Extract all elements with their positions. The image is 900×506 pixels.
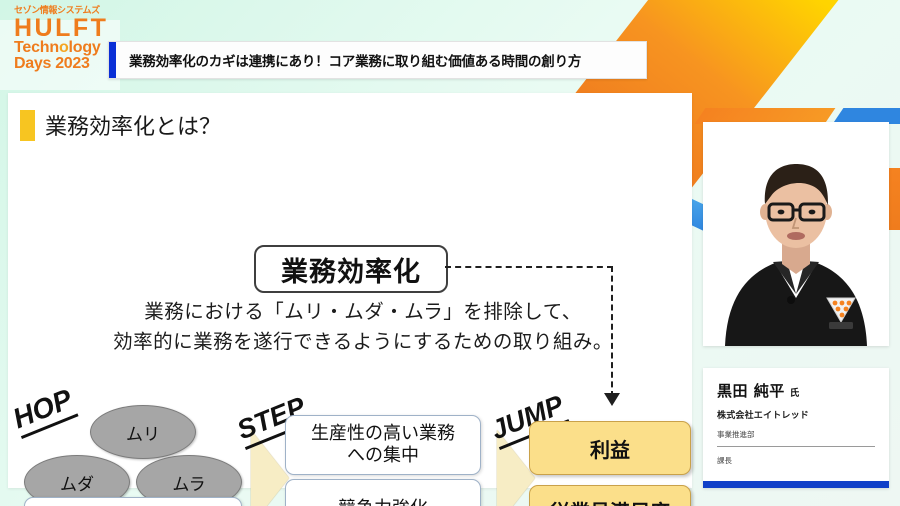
heading-marker — [20, 110, 35, 141]
speaker-card-bottom-bar — [703, 481, 889, 488]
step-focus-line-2: への集中 — [311, 445, 455, 468]
slide-heading-text: 業務効率化とは？ — [45, 109, 221, 141]
stage-label-hop: HOP — [9, 383, 79, 439]
step-box-competitiveness: 競争力強化 — [285, 479, 481, 506]
body-line-2: 効率的に業務を遂行できるようにするための取り組み。 — [98, 327, 628, 357]
logo-days-2023: Days 2023 — [14, 56, 114, 72]
presenter-video-panel[interactable] — [703, 122, 889, 346]
speaker-role: 課長 — [717, 455, 875, 466]
logo-o-part: o — [59, 39, 69, 56]
speaker-name: 黒田 純平 — [717, 382, 785, 400]
logo-techn-part: Techn — [14, 39, 59, 56]
title-accent-bar — [109, 42, 116, 78]
hop-ellipse-muri: ムリ — [90, 405, 196, 459]
speaker-name-row: 黒田 純平氏 — [717, 380, 875, 401]
speaker-card-divider — [717, 446, 875, 447]
connector-horizontal-dashed — [445, 266, 613, 268]
body-line-1: 業務における「ムリ・ムダ・ムラ」を排除して、 — [98, 297, 628, 327]
connector-arrowhead-icon — [604, 393, 620, 406]
session-title-text: 業務効率化のカギは連携にあり！コア業務に取り組む価値ある時間の創り方 — [129, 50, 581, 70]
keyword-box-text: 業務効率化 — [281, 250, 421, 289]
step-box-focus: 生産性の高い業務 への集中 — [285, 415, 481, 475]
hulft-logo: セゾン情報システムズ HULFT Technology Days 2023 — [14, 6, 114, 72]
logo-technology-word: Technology — [14, 40, 114, 56]
slide-viewer: セゾン情報システムズ HULFT Technology Days 2023 業務… — [0, 0, 900, 506]
speaker-department: 事業推進部 — [717, 429, 875, 440]
slide-heading: 業務効率化とは？ — [20, 109, 221, 141]
jump-box-profit: 利益 — [529, 421, 691, 475]
keyword-box: 業務効率化 — [254, 245, 448, 293]
speaker-company: 株式会社エイトレッド — [717, 408, 875, 421]
slide-body-text: 業務における「ムリ・ムダ・ムラ」を排除して、 効率的に業務を遂行できるようにする… — [98, 297, 628, 357]
logo-hulft-wordmark: HULFT — [14, 16, 114, 41]
jump-box-satisfaction: 従業員満足度 — [529, 485, 691, 506]
logo-logy-part: logy — [69, 39, 101, 56]
hop-outcome-box: リソースの削減 — [24, 497, 242, 506]
presenter-figure — [703, 122, 889, 346]
presentation-slide: 業務効率化とは？ 業務効率化 業務における「ムリ・ムダ・ムラ」を排除して、 効率… — [8, 93, 692, 488]
speaker-name-suffix: 氏 — [790, 388, 800, 399]
speaker-info-card: 黒田 純平氏 株式会社エイトレッド 事業推進部 課長 — [703, 368, 889, 488]
step-focus-line-1: 生産性の高い業務 — [311, 423, 455, 446]
session-title-bar: 業務効率化のカギは連携にあり！コア業務に取り組む価値ある時間の創り方 — [108, 41, 647, 79]
connector-vertical-dashed — [611, 266, 613, 397]
